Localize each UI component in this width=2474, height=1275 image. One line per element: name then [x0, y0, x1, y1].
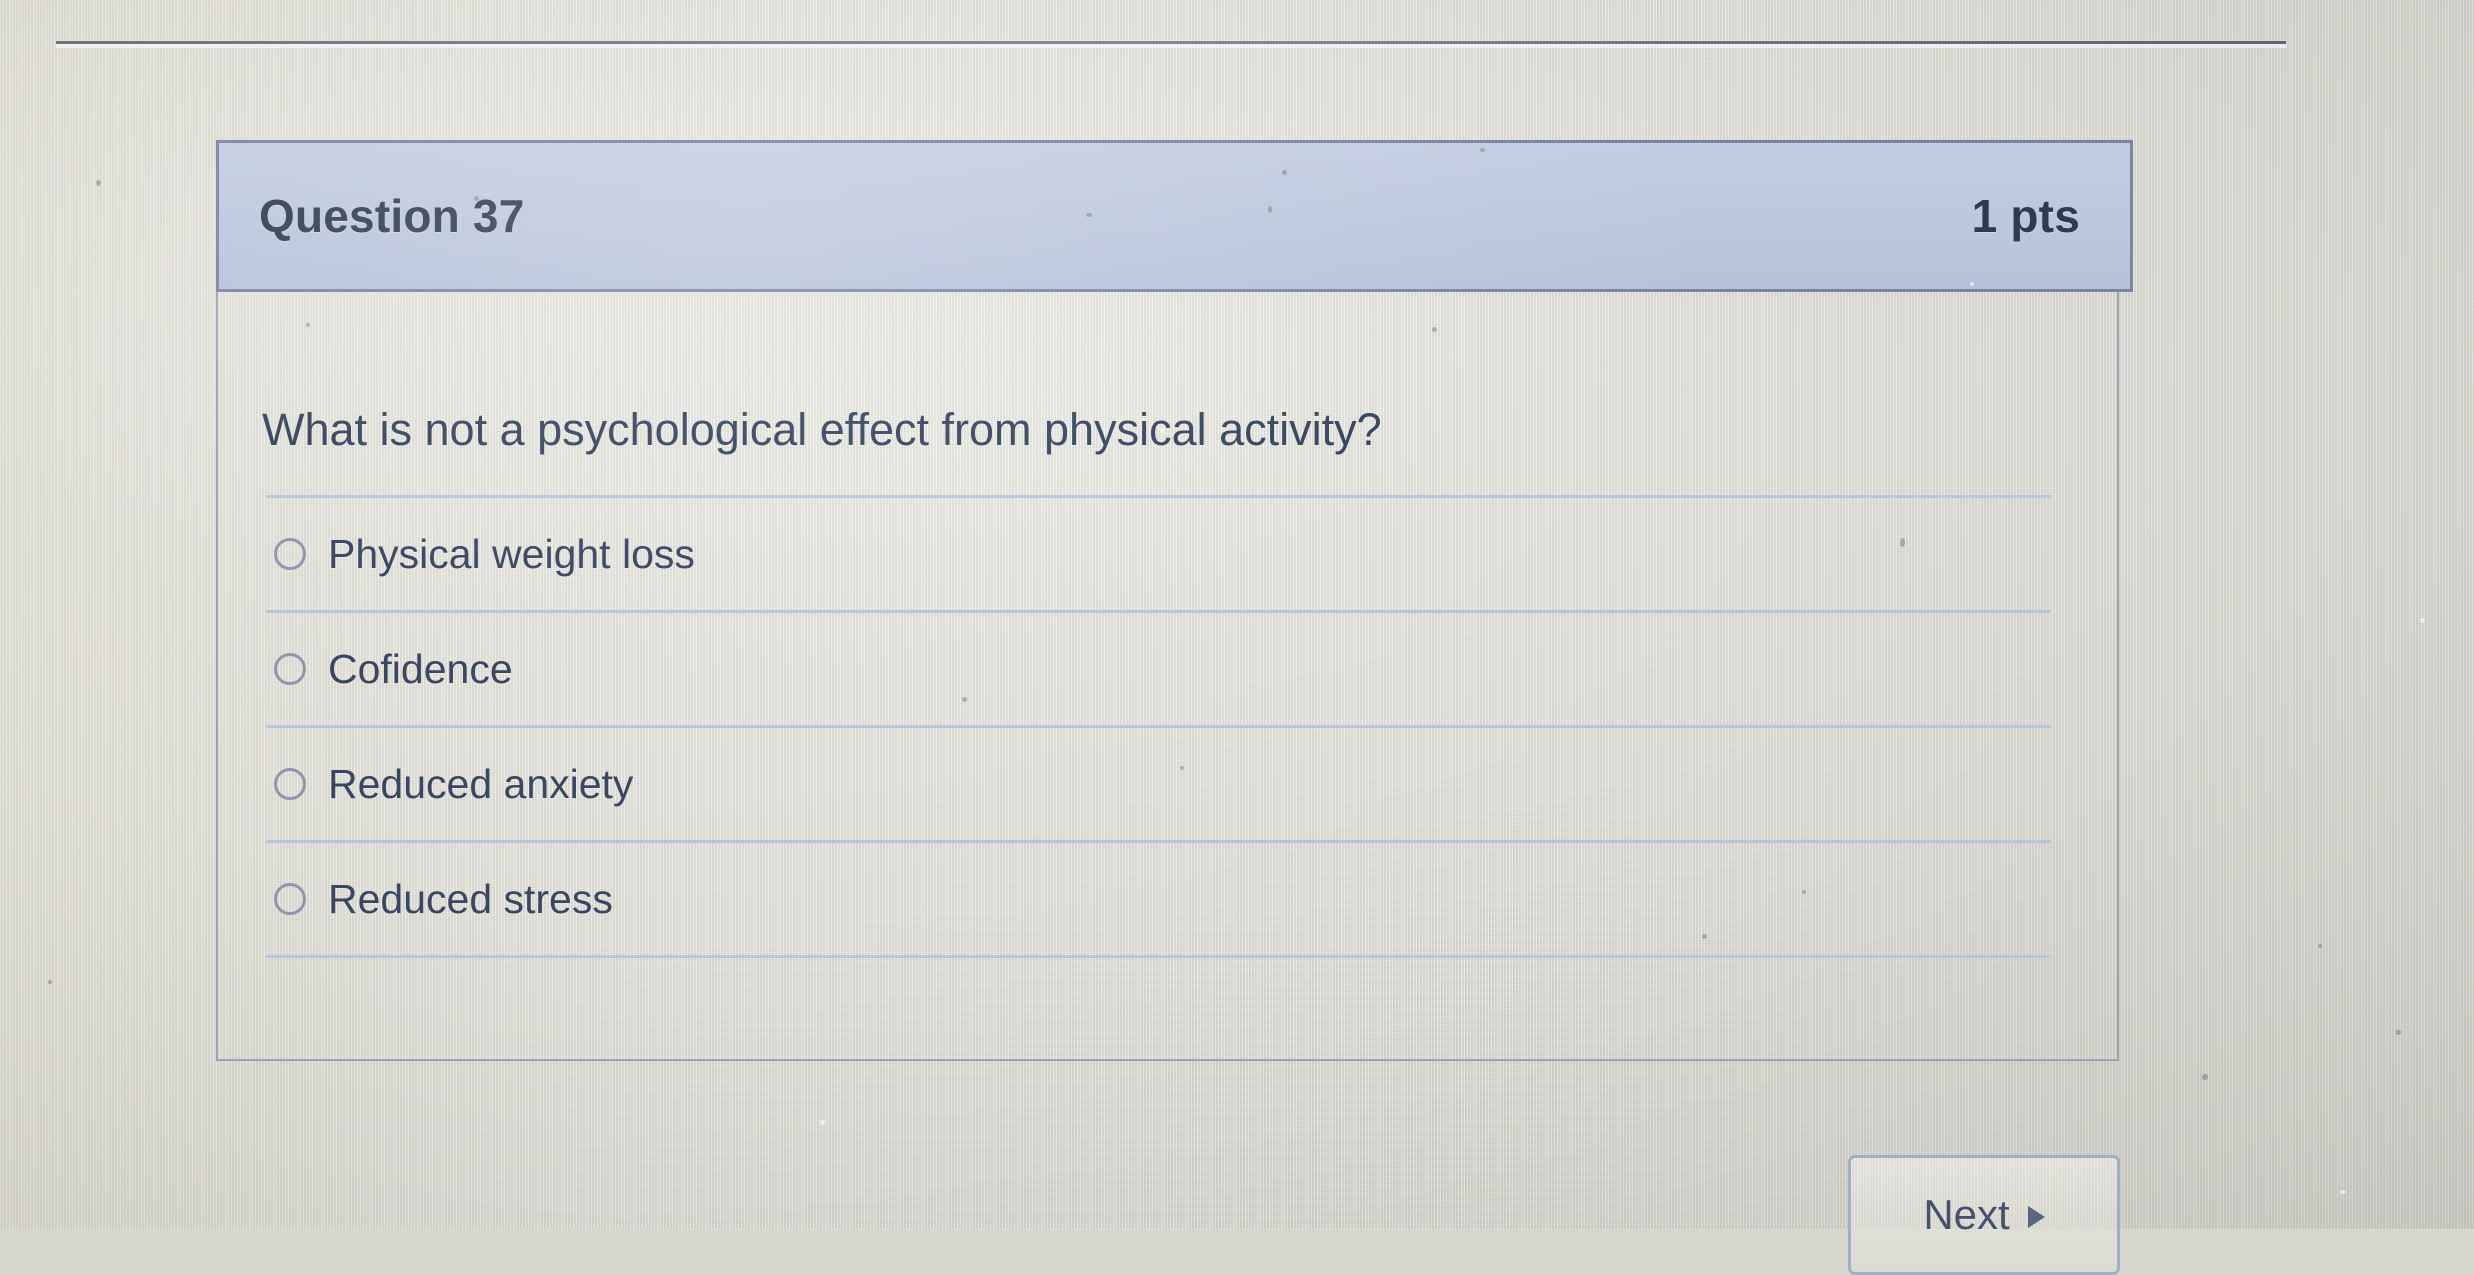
question-body: What is not a psychological effect from …: [216, 292, 2119, 1061]
answer-option-1[interactable]: Physical weight loss: [266, 495, 2051, 610]
question-header: Question 37 1 pts: [216, 140, 2133, 292]
page-top-divider-highlight: [56, 44, 2286, 48]
answer-option-label: Reduced anxiety: [328, 761, 633, 808]
question-card: Question 37 1 pts What is not a psycholo…: [216, 140, 2133, 1061]
next-button-label: Next: [1923, 1191, 2009, 1239]
answer-options-list: Physical weight loss Cofidence Reduced a…: [266, 495, 2051, 958]
radio-unchecked-icon[interactable]: [274, 653, 306, 685]
answer-option-2[interactable]: Cofidence: [266, 610, 2051, 725]
radio-unchecked-icon[interactable]: [274, 768, 306, 800]
answer-option-4[interactable]: Reduced stress: [266, 840, 2051, 958]
question-points: 1 pts: [1972, 189, 2094, 243]
answer-option-3[interactable]: Reduced anxiety: [266, 725, 2051, 840]
radio-unchecked-icon[interactable]: [274, 883, 306, 915]
question-title: Question 37: [259, 189, 525, 243]
radio-unchecked-icon[interactable]: [274, 538, 306, 570]
answer-option-label: Physical weight loss: [328, 531, 695, 578]
question-prompt: What is not a psychological effect from …: [262, 404, 1382, 456]
next-button[interactable]: Next: [1848, 1155, 2120, 1275]
answer-option-label: Reduced stress: [328, 876, 613, 923]
answer-option-label: Cofidence: [328, 646, 513, 693]
arrow-right-icon: [2028, 1206, 2045, 1228]
